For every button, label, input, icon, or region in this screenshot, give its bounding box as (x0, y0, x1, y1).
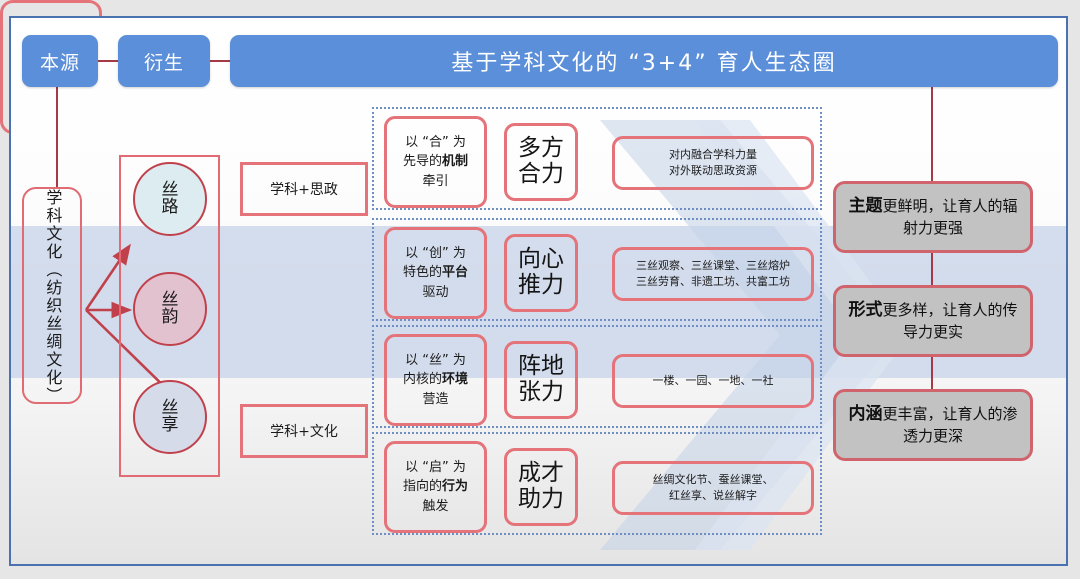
approach-suffix: 驱动 (422, 285, 448, 300)
force-box-2[interactable]: 向心 推力 (504, 234, 578, 312)
force-line-1: 多方 (518, 135, 564, 161)
outcome-box-1[interactable]: 主题更鲜明，让育人的辐射力更强 (833, 181, 1033, 253)
circle-siyun[interactable]: 丝韵 (133, 272, 207, 346)
approach-key: 环境 (442, 372, 468, 387)
approach-prefix: 以 “丝” 为 (405, 353, 466, 368)
approach-box-3[interactable]: 以 “丝” 为 内核的环境 营造 (384, 334, 487, 426)
outcome-key: 形式 (848, 300, 882, 320)
approach-mid: 指向的 (403, 479, 442, 494)
detail-box-2[interactable]: 三丝观察、三丝课堂、三丝熔炉 三丝劳育、非遗工坊、共富工坊 (612, 247, 814, 301)
approach-box-4[interactable]: 以 “启” 为 指向的行为 触发 (384, 441, 487, 533)
outcome-key: 内涵 (848, 404, 882, 424)
approach-key: 机制 (442, 154, 468, 169)
force-box-4[interactable]: 成才 助力 (504, 448, 578, 526)
approach-prefix: 以 “合” 为 (405, 135, 466, 150)
detail-box-1[interactable]: 对内融合学科力量 对外联动思政资源 (612, 136, 814, 190)
approach-suffix: 触发 (422, 499, 448, 514)
outcome-box-3[interactable]: 内涵更丰富，让育人的渗透力更深 (833, 389, 1033, 461)
approach-box-1[interactable]: 以 “合” 为 先导的机制 牵引 (384, 116, 487, 208)
approach-mid: 特色的 (403, 265, 442, 280)
approach-prefix: 以 “启” 为 (405, 460, 466, 475)
detail-line-1: 三丝观察、三丝课堂、三丝熔炉 (636, 259, 790, 272)
circle-label: 丝享 (162, 400, 179, 435)
force-line-1: 成才 (518, 460, 564, 486)
circle-sixiang[interactable]: 丝享 (133, 380, 207, 454)
detail-line-1: 丝绸文化节、蚕丝课堂、 (653, 473, 774, 486)
detail-line-2: 三丝劳育、非遗工坊、共富工坊 (636, 275, 790, 288)
outcome-key: 主题 (848, 196, 882, 216)
detail-box-3[interactable]: 一楼、一园、一地、一社 (612, 354, 814, 408)
detail-line-2: 红丝享、说丝解字 (669, 489, 757, 502)
approach-key: 行为 (442, 479, 468, 494)
approach-box-2[interactable]: 以 “创” 为 特色的平台 驱动 (384, 227, 487, 319)
force-line-2: 助力 (518, 486, 564, 512)
circle-label: 丝路 (162, 182, 179, 217)
force-line-1: 阵地 (518, 353, 564, 379)
core-culture-label: 学科文化（纺织丝绸文化） (44, 189, 61, 402)
detail-line-2: 对外联动思政资源 (669, 164, 757, 177)
outcome-rest: 更鲜明，让育人的辐射力更强 (882, 197, 1017, 238)
core-culture-card[interactable]: 学科文化（纺织丝绸文化） (22, 187, 82, 404)
circle-siliu[interactable]: 丝路 (133, 162, 207, 236)
diagram-canvas: 本源 衍生 基于学科文化的 “3+4” 育人生态圈 学科文化（纺织丝绸文化） 丝… (0, 0, 1080, 579)
outcome-rest: 更丰富，让育人的渗透力更深 (882, 405, 1017, 446)
outcome-rest: 更多样，让育人的传导力更实 (882, 301, 1017, 342)
detail-line-1: 对内融合学科力量 (669, 148, 757, 161)
approach-prefix: 以 “创” 为 (405, 246, 466, 261)
approach-key: 平台 (442, 265, 468, 280)
force-line-2: 合力 (518, 161, 564, 187)
tag-discipline-ideology[interactable]: 学科+思政 (240, 162, 368, 216)
force-line-1: 向心 (518, 246, 564, 272)
origin-box[interactable]: 本源 (22, 35, 98, 87)
detail-line-1: 一楼、一园、一地、一社 (653, 374, 774, 387)
tag-discipline-culture[interactable]: 学科+文化 (240, 404, 368, 458)
approach-suffix: 营造 (422, 392, 448, 407)
approach-mid: 内核的 (403, 372, 442, 387)
approach-mid: 先导的 (403, 154, 442, 169)
derive-box[interactable]: 衍生 (118, 35, 210, 87)
circle-label: 丝韵 (162, 292, 179, 327)
force-line-2: 推力 (518, 272, 564, 298)
detail-box-4[interactable]: 丝绸文化节、蚕丝课堂、 红丝享、说丝解字 (612, 461, 814, 515)
page-title: 基于学科文化的 “3+4” 育人生态圈 (230, 35, 1058, 87)
approach-suffix: 牵引 (422, 174, 448, 189)
force-box-3[interactable]: 阵地 张力 (504, 341, 578, 419)
outcome-box-2[interactable]: 形式更多样，让育人的传导力更实 (833, 285, 1033, 357)
force-line-2: 张力 (518, 379, 564, 405)
force-box-1[interactable]: 多方 合力 (504, 123, 578, 201)
